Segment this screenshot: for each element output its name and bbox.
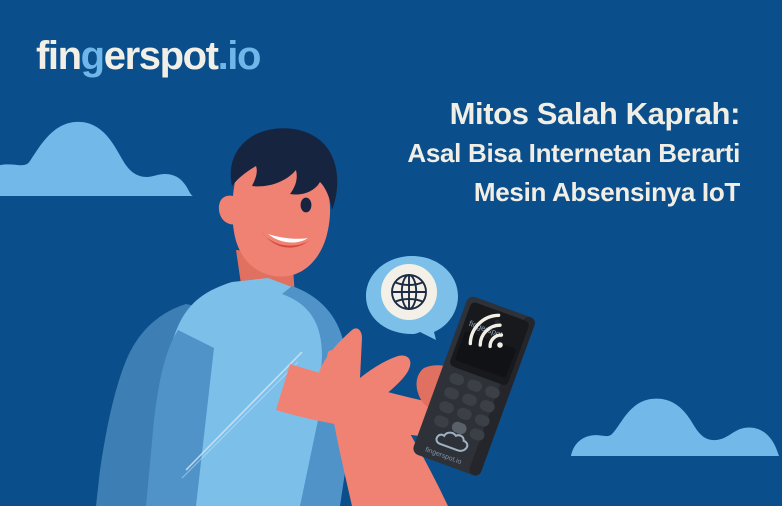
globe-icon (392, 275, 426, 309)
headline-line-1: Mitos Salah Kaprah: (310, 94, 740, 134)
headline-line-2: Asal Bisa Internetan Berarti (310, 134, 740, 174)
headline-block: Mitos Salah Kaprah: Asal Bisa Internetan… (310, 94, 740, 213)
brand-logo[interactable]: fingerspot.io (36, 36, 260, 76)
logo-part-dotio: .io (218, 34, 260, 78)
headline-line-3: Mesin Absensinya IoT (310, 173, 740, 213)
logo-part-fin: fin (36, 34, 81, 78)
logo-part-g: g (81, 34, 104, 78)
hero-banner: fingerspot (0, 0, 782, 506)
logo-part-erspot: erspot (104, 34, 218, 78)
